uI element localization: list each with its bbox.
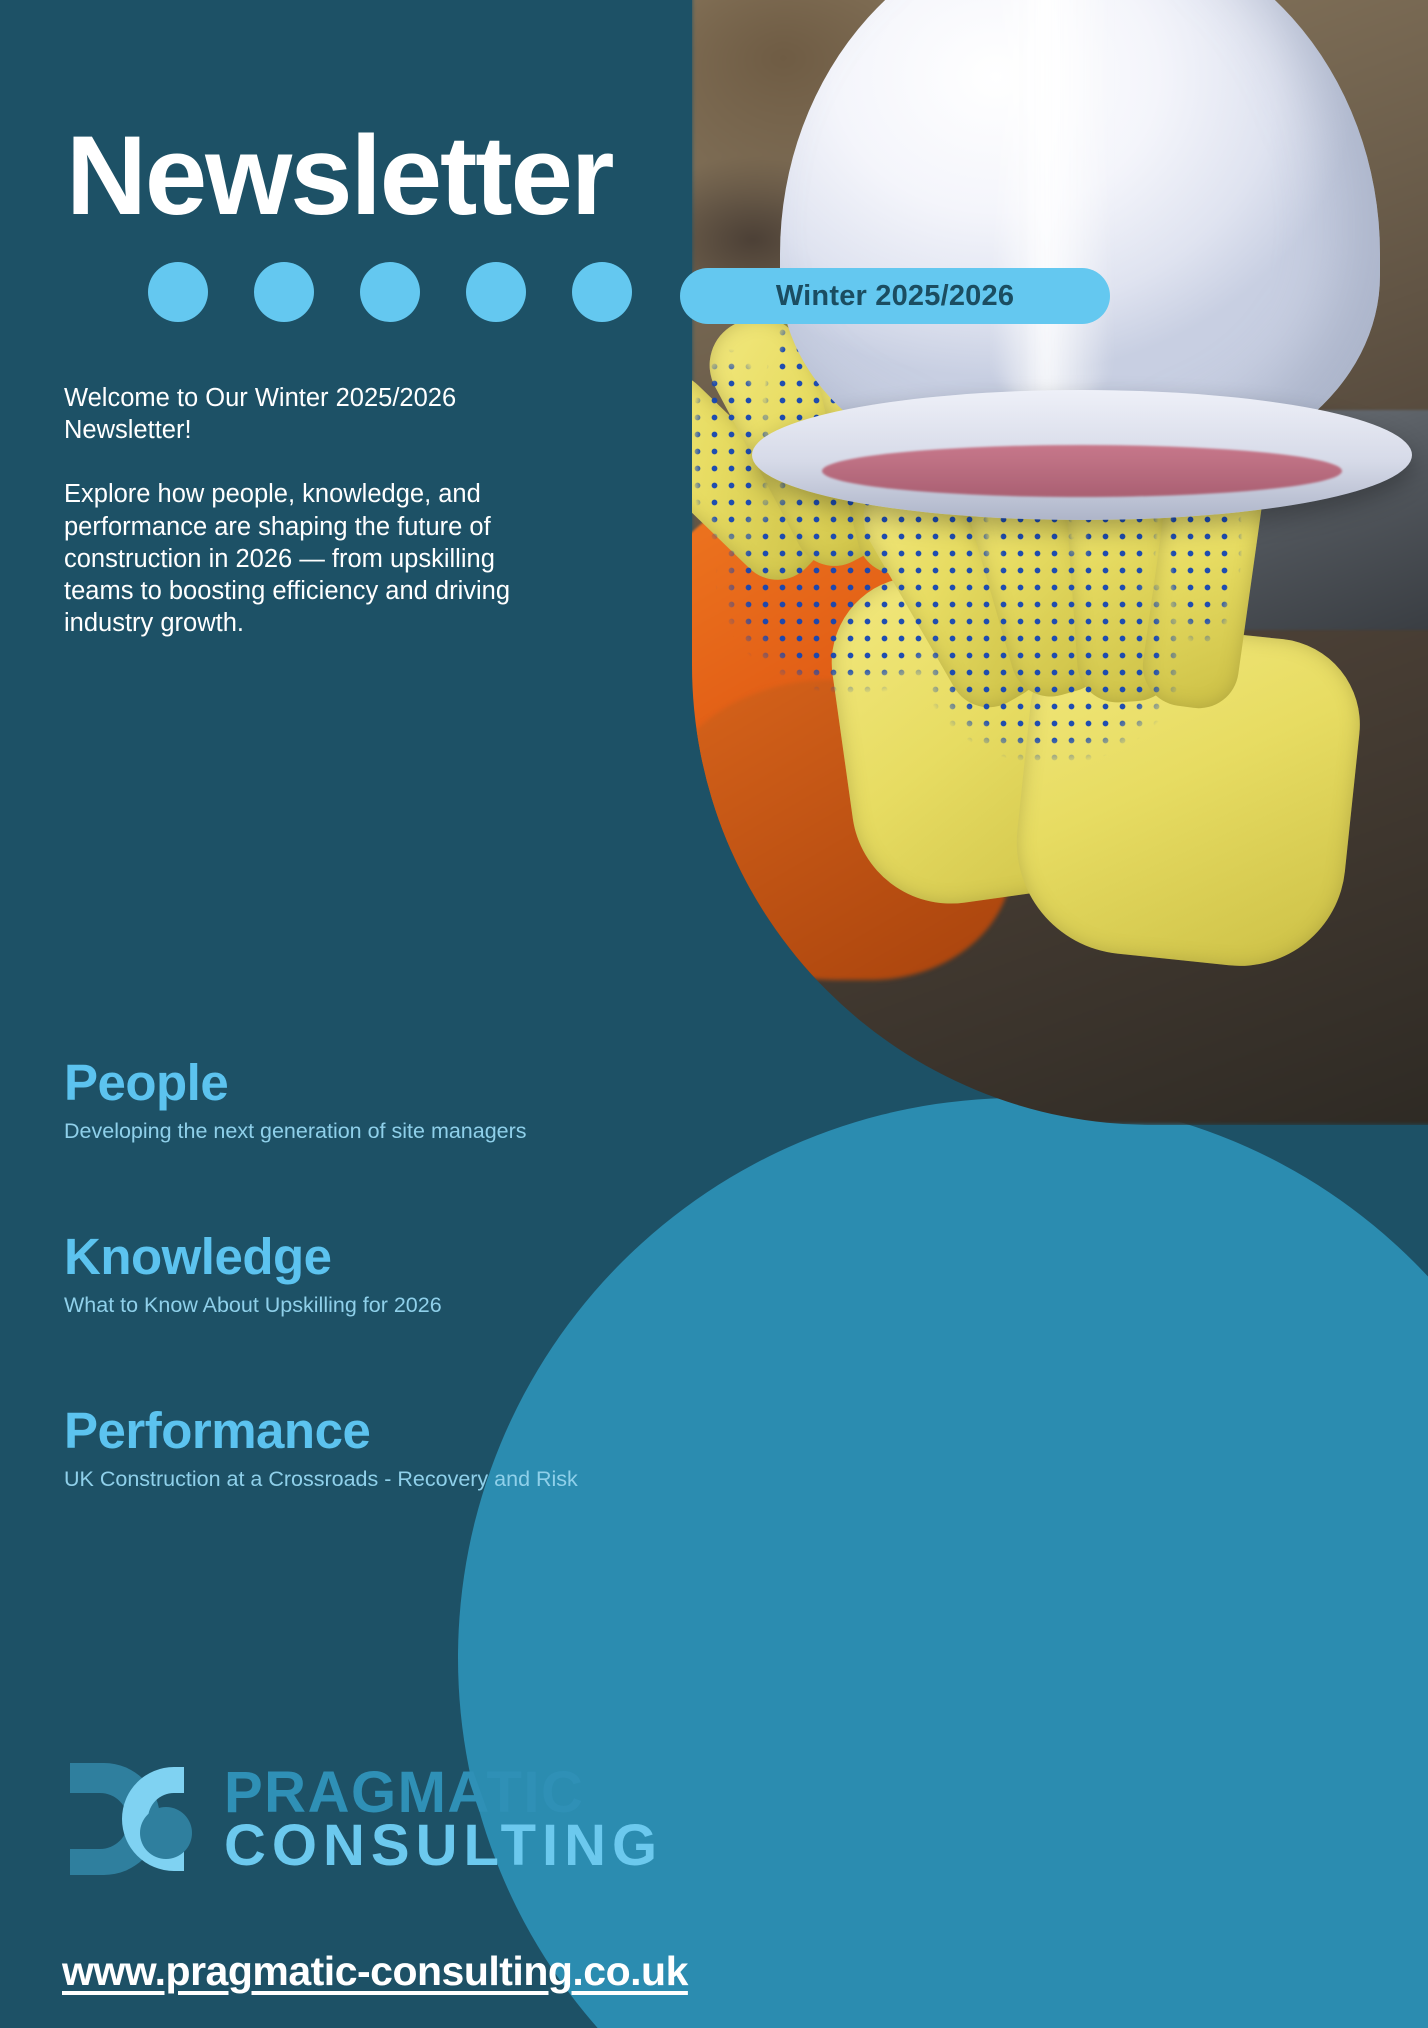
decorative-dot [466, 262, 526, 322]
season-badge: Winter 2025/2026 [680, 268, 1110, 324]
brand-wordmark: PRAGMATIC CONSULTING [224, 1766, 663, 1873]
season-badge-label: Winter 2025/2026 [776, 280, 1014, 313]
section-people-title: People [64, 1056, 527, 1110]
section-people-subtitle: Developing the next generation of site m… [64, 1119, 527, 1145]
brand-wordmark-line2: CONSULTING [224, 1819, 663, 1872]
hard-hat-band [822, 445, 1342, 497]
website-url[interactable]: www.pragmatic-consulting.co.uk [62, 1948, 688, 1995]
section-knowledge-subtitle: What to Know About Upskilling for 2026 [64, 1293, 442, 1319]
section-knowledge-title: Knowledge [64, 1230, 442, 1284]
section-knowledge: Knowledge What to Know About Upskilling … [64, 1230, 442, 1318]
decorative-dot [360, 262, 420, 322]
pragmatic-consulting-logo-icon [62, 1745, 210, 1893]
section-performance-title: Performance [64, 1404, 578, 1458]
decorative-dot [254, 262, 314, 322]
hard-hat-highlight [992, 0, 1112, 410]
decorative-dot [148, 262, 208, 322]
section-performance-subtitle: UK Construction at a Crossroads - Recove… [64, 1467, 578, 1493]
brand-wordmark-line1: PRAGMATIC [224, 1766, 663, 1819]
intro-text: Welcome to Our Winter 2025/2026 Newslett… [64, 382, 534, 639]
decorative-dot-row [148, 262, 632, 322]
section-performance: Performance UK Construction at a Crossro… [64, 1404, 578, 1492]
newsletter-cover-page: Newsletter Winter 2025/2026 Welcome to O… [0, 0, 1428, 2028]
hero-photo [692, 0, 1428, 1125]
section-people: People Developing the next generation of… [64, 1056, 527, 1144]
brand-logo: PRAGMATIC CONSULTING [62, 1745, 663, 1893]
page-title: Newsletter [66, 120, 612, 232]
decorative-dot [572, 262, 632, 322]
